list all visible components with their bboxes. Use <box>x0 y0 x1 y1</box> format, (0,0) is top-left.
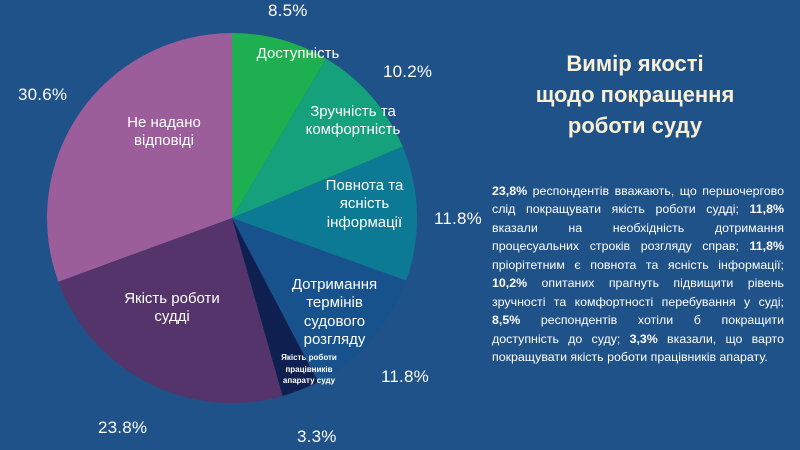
summary-stat: 11,8% <box>750 239 784 253</box>
summary-stat: 11,8% <box>750 202 784 216</box>
summary-text: опитаних прагнуть підвищити рівень зручн… <box>492 276 784 308</box>
summary-paragraph: 23,8% респондентів вважають, що першочер… <box>492 182 784 367</box>
summary-stat: 8,5% <box>492 313 520 327</box>
slide-root: Доступність8.5%Зручність та комфортність… <box>0 0 800 450</box>
page-title: Вимір якості щодо покращення роботи суду <box>480 48 790 142</box>
pie-percent-label: 8.5% <box>268 2 308 19</box>
pie-percent-label: 3.3% <box>297 428 337 445</box>
summary-text: пріорітетним є повнота та ясність інформ… <box>492 258 784 272</box>
summary-text: вказали на необхідність дотримання проце… <box>492 221 784 253</box>
summary-text: респондентів вважають, що першочергово с… <box>492 184 784 216</box>
summary-stat: 10,2% <box>492 276 527 290</box>
text-panel: Вимір якості щодо покращення роботи суду… <box>470 0 800 450</box>
pie-percent-label: 23.8% <box>98 419 147 436</box>
pie-chart: Доступність8.5%Зручність та комфортність… <box>0 0 470 450</box>
pie-percent-label: 30.6% <box>18 86 67 103</box>
pie-percent-label: 10.2% <box>383 63 432 80</box>
summary-body: 23,8% респондентів вважають, що першочер… <box>492 182 784 367</box>
summary-stat: 3,3% <box>630 332 658 346</box>
summary-stat: 23,8% <box>492 184 527 198</box>
pie-percent-label: 11.8% <box>381 368 429 385</box>
